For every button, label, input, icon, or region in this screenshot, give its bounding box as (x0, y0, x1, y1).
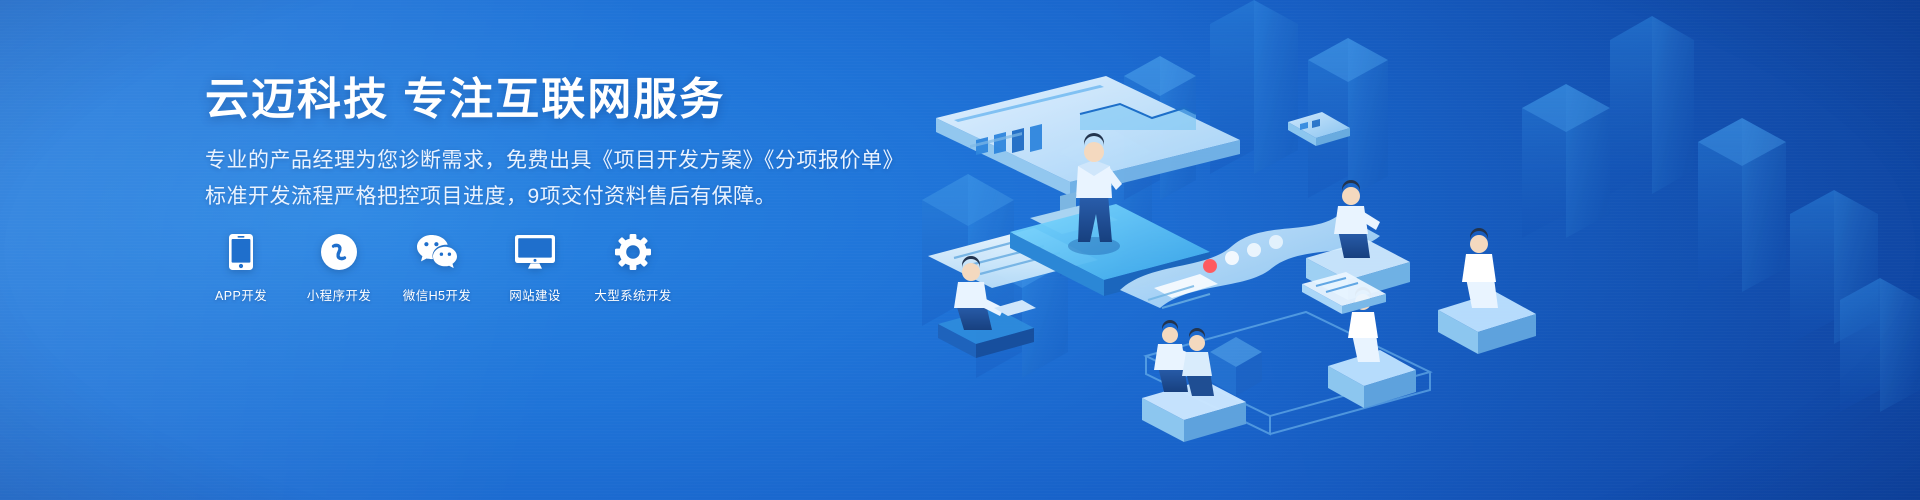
service-label: 微信H5开发 (403, 285, 471, 304)
service-item-wechat-h5[interactable]: 微信H5开发 (401, 232, 473, 304)
hero-subtitle: 专业的产品经理为您诊断需求，免费出具《项目开发方案》《分项报价单》 标准开发流程… (205, 144, 965, 214)
service-item-website[interactable]: 网站建设 (499, 232, 571, 304)
service-item-app[interactable]: APP开发 (205, 232, 277, 304)
monitor-icon (514, 232, 556, 272)
subtitle-line-2: 标准开发流程严格把控项目进度，9项交付资料售后有保障。 (205, 180, 965, 214)
service-item-large-system[interactable]: 大型系统开发 (597, 232, 669, 304)
service-label: APP开发 (215, 285, 267, 304)
service-label: 大型系统开发 (594, 285, 671, 304)
hero-banner: 云迈科技 专注互联网服务 专业的产品经理为您诊断需求，免费出具《项目开发方案》《… (0, 0, 1920, 500)
service-item-mini-program[interactable]: 小程序开发 (303, 232, 375, 304)
gear-icon (613, 232, 653, 272)
page-title: 云迈科技 专注互联网服务 (205, 74, 965, 126)
hero-copy: 云迈科技 专注互联网服务 专业的产品经理为您诊断需求，免费出具《项目开发方案》《… (205, 74, 965, 216)
service-label: 小程序开发 (307, 285, 372, 304)
mobile-phone-icon (228, 232, 254, 272)
service-label: 网站建设 (509, 285, 561, 304)
mini-program-icon (320, 232, 358, 272)
service-list: APP开发 小程序开发 (205, 232, 669, 304)
subtitle-line-1: 专业的产品经理为您诊断需求，免费出具《项目开发方案》《分项报价单》 (205, 144, 965, 178)
wechat-icon (415, 232, 459, 272)
isometric-team-dashboard-illustration (910, 0, 1920, 500)
